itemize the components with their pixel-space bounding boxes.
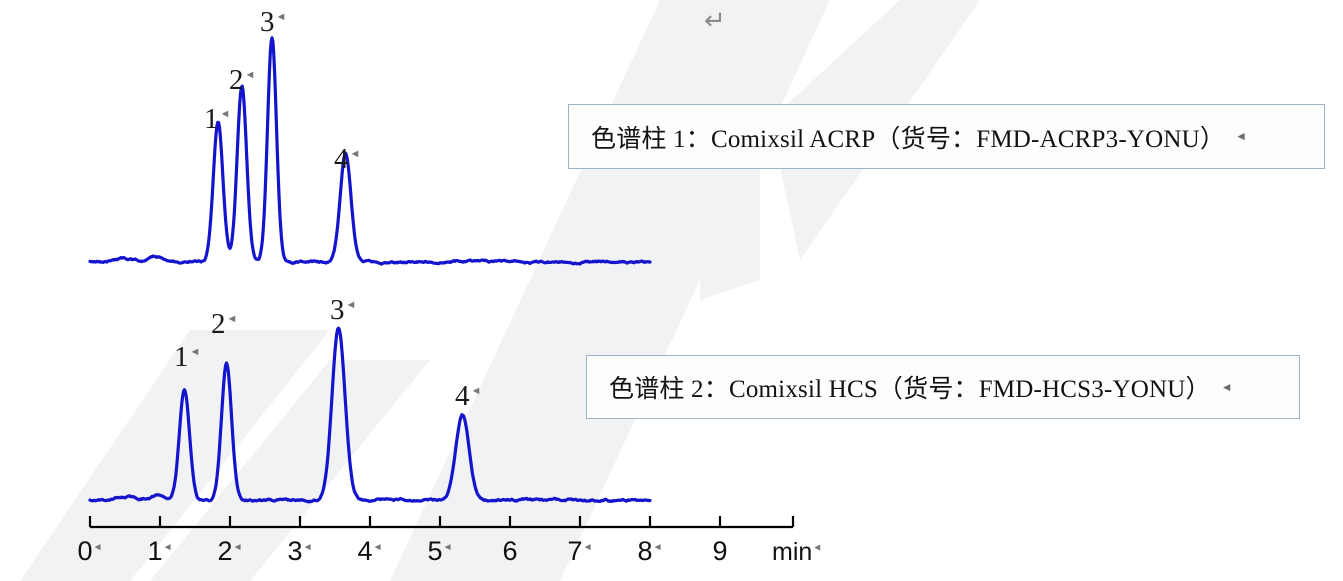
tick-value: 5	[428, 536, 443, 566]
tick-mark-icon: ◄	[93, 542, 103, 553]
peak-label-mark: ◄	[190, 346, 201, 358]
peak-label-3: 3◄	[260, 8, 286, 37]
tick-value: 6	[502, 536, 517, 566]
tick-value: 3	[288, 536, 303, 566]
caption-end-mark-icon: ◄	[1235, 129, 1247, 144]
peak-label-mark: ◄	[227, 313, 238, 325]
peak-label-4: 4◄	[334, 145, 360, 174]
paragraph-return-icon: ↵	[704, 8, 726, 34]
x-axis-tick-6: 6	[502, 538, 517, 565]
x-axis-tick-2: 2◄	[218, 538, 243, 565]
peak-label-text: 4	[334, 143, 349, 175]
tick-mark-icon: ◄	[303, 542, 313, 553]
peak-label-mark: ◄	[471, 385, 482, 397]
caption-end-mark-icon: ◄	[1221, 380, 1233, 395]
x-axis-tick-5: 5◄	[428, 538, 453, 565]
peak-label-mark: ◄	[220, 108, 231, 120]
tick-value: 2	[218, 536, 233, 566]
unit-text: min	[772, 538, 812, 566]
peak-label-2: 2◄	[211, 310, 237, 339]
x-axis-unit-label: min◄	[772, 540, 822, 565]
tick-value: 7	[568, 536, 583, 566]
x-axis-tick-9: 9	[712, 538, 727, 565]
peak-label-text: 4	[455, 380, 470, 412]
x-axis-tick-8: 8◄	[638, 538, 663, 565]
x-axis	[90, 516, 793, 527]
peak-label-text: 1	[174, 341, 189, 373]
tick-mark-icon: ◄	[812, 543, 822, 554]
peak-label-2: 2◄	[229, 66, 255, 95]
tick-mark-icon: ◄	[163, 542, 173, 553]
x-axis-tick-7: 7◄	[568, 538, 593, 565]
peak-label-text: 2	[229, 64, 244, 96]
peak-label-1: 1◄	[174, 343, 200, 372]
peak-label-text: 2	[211, 308, 226, 340]
x-axis-tick-4: 4◄	[358, 538, 383, 565]
tick-value: 4	[358, 536, 373, 566]
caption-text-column-1: 色谱柱 1：Comixsil ACRP（货号：FMD-ACRP3-YONU）	[569, 119, 1225, 155]
caption-box-column-1[interactable]: 色谱柱 1：Comixsil ACRP（货号：FMD-ACRP3-YONU） ◄	[568, 104, 1325, 169]
x-axis-tick-3: 3◄	[288, 538, 313, 565]
peak-label-text: 3	[330, 294, 345, 326]
tick-value: 8	[638, 536, 653, 566]
peak-label-4: 4◄	[455, 382, 481, 411]
peak-label-text: 3	[260, 6, 275, 38]
peak-label-3: 3◄	[330, 296, 356, 325]
tick-mark-icon: ◄	[443, 542, 453, 553]
tick-mark-icon: ◄	[653, 542, 663, 553]
peak-label-mark: ◄	[276, 11, 287, 23]
caption-box-column-2[interactable]: 色谱柱 2：Comixsil HCS（货号：FMD-HCS3-YONU） ◄	[586, 355, 1300, 419]
tick-mark-icon: ◄	[583, 542, 593, 553]
peak-label-1: 1◄	[204, 105, 230, 134]
tick-mark-icon: ◄	[373, 542, 383, 553]
peak-label-mark: ◄	[350, 148, 361, 160]
tick-mark-icon: ◄	[233, 542, 243, 553]
tick-value: 0	[78, 536, 93, 566]
peak-label-mark: ◄	[346, 299, 357, 311]
chromatogram-chart	[0, 0, 1343, 581]
peak-label-text: 1	[204, 103, 219, 135]
peak-label-mark: ◄	[245, 69, 256, 81]
x-axis-tick-1: 1◄	[148, 538, 173, 565]
tick-value: 9	[712, 536, 727, 566]
x-axis-tick-0: 0◄	[78, 538, 103, 565]
chromatogram-trace-column-1	[90, 38, 650, 264]
tick-value: 1	[148, 536, 163, 566]
caption-text-column-2: 色谱柱 2：Comixsil HCS（货号：FMD-HCS3-YONU）	[587, 369, 1211, 405]
